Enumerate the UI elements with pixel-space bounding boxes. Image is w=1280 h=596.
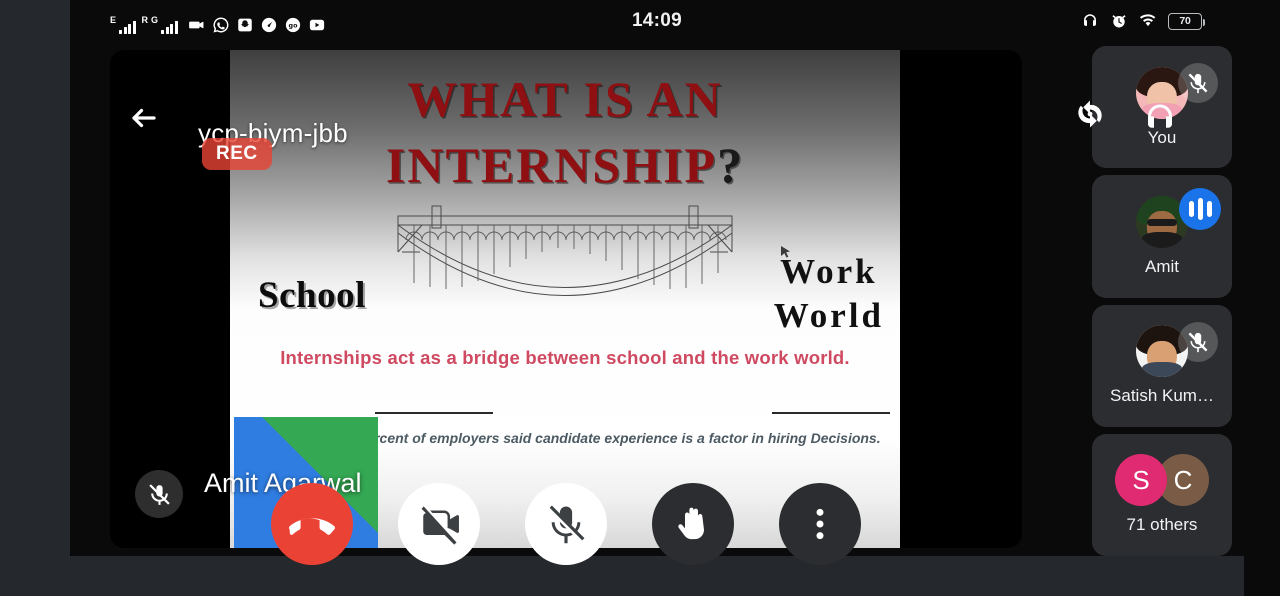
sim2-signal-indicator: R G bbox=[142, 16, 178, 34]
mouse-cursor-icon bbox=[781, 246, 791, 259]
participant-name: Satish Kum… bbox=[1110, 386, 1214, 406]
avatar-initial: S bbox=[1115, 454, 1167, 506]
device-right-bezel bbox=[1244, 0, 1280, 596]
bridge-illustration bbox=[380, 200, 750, 345]
end-call-button[interactable] bbox=[271, 483, 353, 565]
participant-tile-amit[interactable]: Amit bbox=[1092, 175, 1232, 297]
participant-tile-others[interactable]: S C 71 others bbox=[1092, 434, 1232, 556]
headphone-icon bbox=[1140, 98, 1180, 138]
sim1-signal-indicator: E bbox=[110, 16, 136, 34]
headphone-icon bbox=[1081, 12, 1099, 30]
slide-left-label: School bbox=[258, 274, 366, 317]
alarm-clock-icon bbox=[1110, 12, 1128, 30]
slide-title-question-mark: ? bbox=[717, 137, 744, 193]
device-left-bezel bbox=[0, 0, 70, 596]
video-camera-icon bbox=[188, 16, 206, 34]
mic-off-icon bbox=[1178, 63, 1218, 103]
camera-flip-icon[interactable] bbox=[1068, 92, 1112, 136]
back-button[interactable] bbox=[120, 94, 168, 142]
call-controls-bar bbox=[110, 482, 1022, 566]
signal-bars-icon bbox=[119, 20, 136, 34]
slide-right-label: Work World bbox=[774, 250, 884, 338]
participant-name: 71 others bbox=[1127, 515, 1198, 535]
whatsapp-icon bbox=[212, 16, 230, 34]
status-bar-right-icons: 70 bbox=[1081, 12, 1202, 30]
battery-icon: 70 bbox=[1168, 13, 1202, 30]
speedometer-icon bbox=[260, 16, 278, 34]
recording-badge[interactable]: REC bbox=[202, 138, 272, 170]
camera-off-button[interactable] bbox=[398, 483, 480, 565]
participant-name: Amit bbox=[1145, 257, 1179, 277]
mic-off-icon bbox=[1178, 322, 1218, 362]
snapchat-icon bbox=[236, 16, 254, 34]
active-speaker-icon bbox=[1179, 188, 1221, 230]
more-options-button[interactable] bbox=[779, 483, 861, 565]
signal-bars-icon bbox=[161, 20, 178, 34]
participant-tile-satish[interactable]: Satish Kum… bbox=[1092, 305, 1232, 427]
slide-divider-right bbox=[772, 412, 890, 414]
go-app-icon: go bbox=[284, 16, 302, 34]
wifi-icon bbox=[1139, 12, 1157, 30]
main-video-stage[interactable]: WHAT IS AN INTERNSHIP? School Work World bbox=[110, 50, 1022, 548]
raise-hand-button[interactable] bbox=[652, 483, 734, 565]
youtube-icon bbox=[308, 16, 326, 34]
microphone-off-button[interactable] bbox=[525, 483, 607, 565]
slide-body-text: Internships act as a bridge between scho… bbox=[254, 345, 876, 371]
status-bar-left-icons: E R G go bbox=[110, 8, 326, 34]
avatar-group: S C bbox=[1115, 454, 1209, 506]
status-bar: 14:09 E R G go bbox=[70, 0, 1244, 42]
slide-divider-left bbox=[375, 412, 493, 414]
svg-text:go: go bbox=[288, 22, 298, 30]
